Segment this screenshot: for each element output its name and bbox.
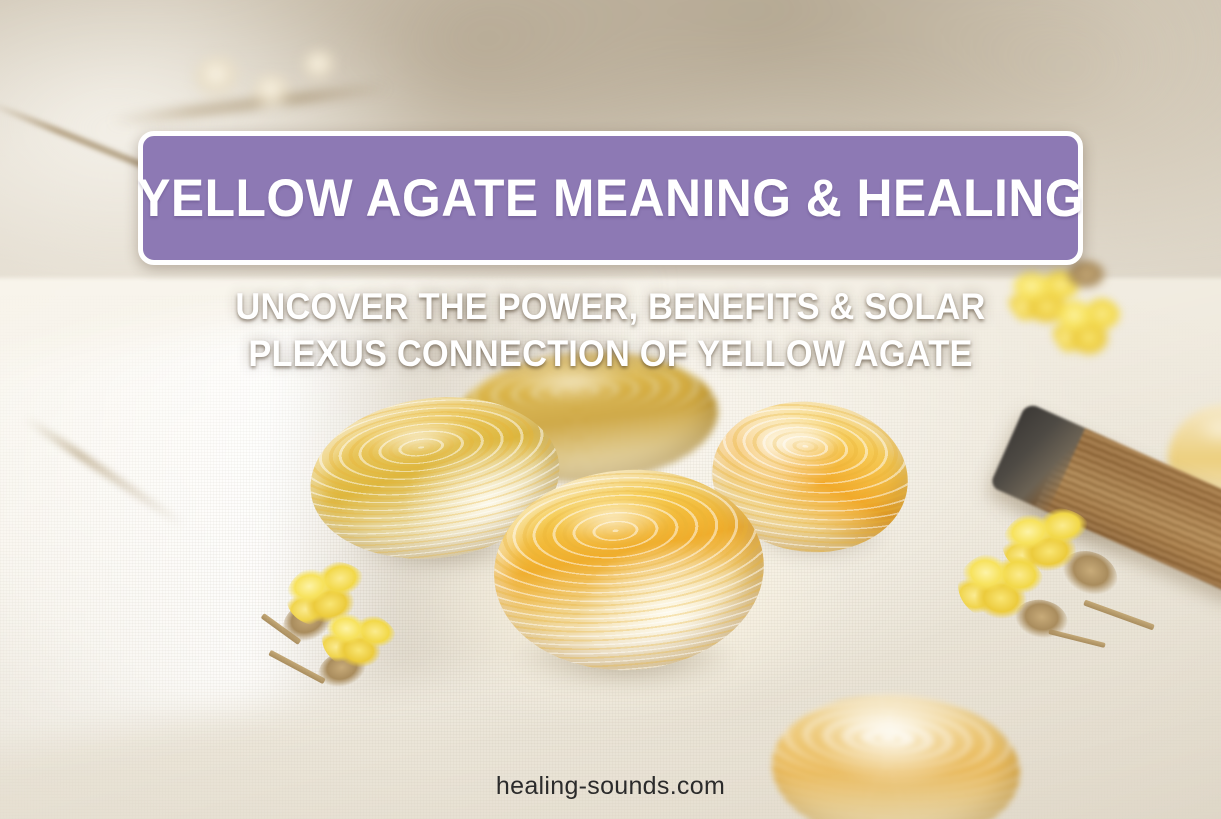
subtitle-line-2: PLEXUS CONNECTION OF YELLOW AGATE	[43, 330, 1179, 377]
subtitle-line-1: UNCOVER THE POWER, BENEFITS & SOLAR	[43, 283, 1179, 330]
page-subtitle: UNCOVER THE POWER, BENEFITS & SOLAR PLEX…	[43, 283, 1179, 378]
title-banner: YELLOW AGATE MEANING & HEALING	[138, 131, 1083, 265]
page-title: YELLOW AGATE MEANING & HEALING	[137, 172, 1084, 225]
text-overlay: YELLOW AGATE MEANING & HEALING UNCOVER T…	[0, 0, 1221, 819]
hero-banner: YELLOW AGATE MEANING & HEALING UNCOVER T…	[0, 0, 1221, 819]
site-url: healing-sounds.com	[0, 772, 1221, 801]
